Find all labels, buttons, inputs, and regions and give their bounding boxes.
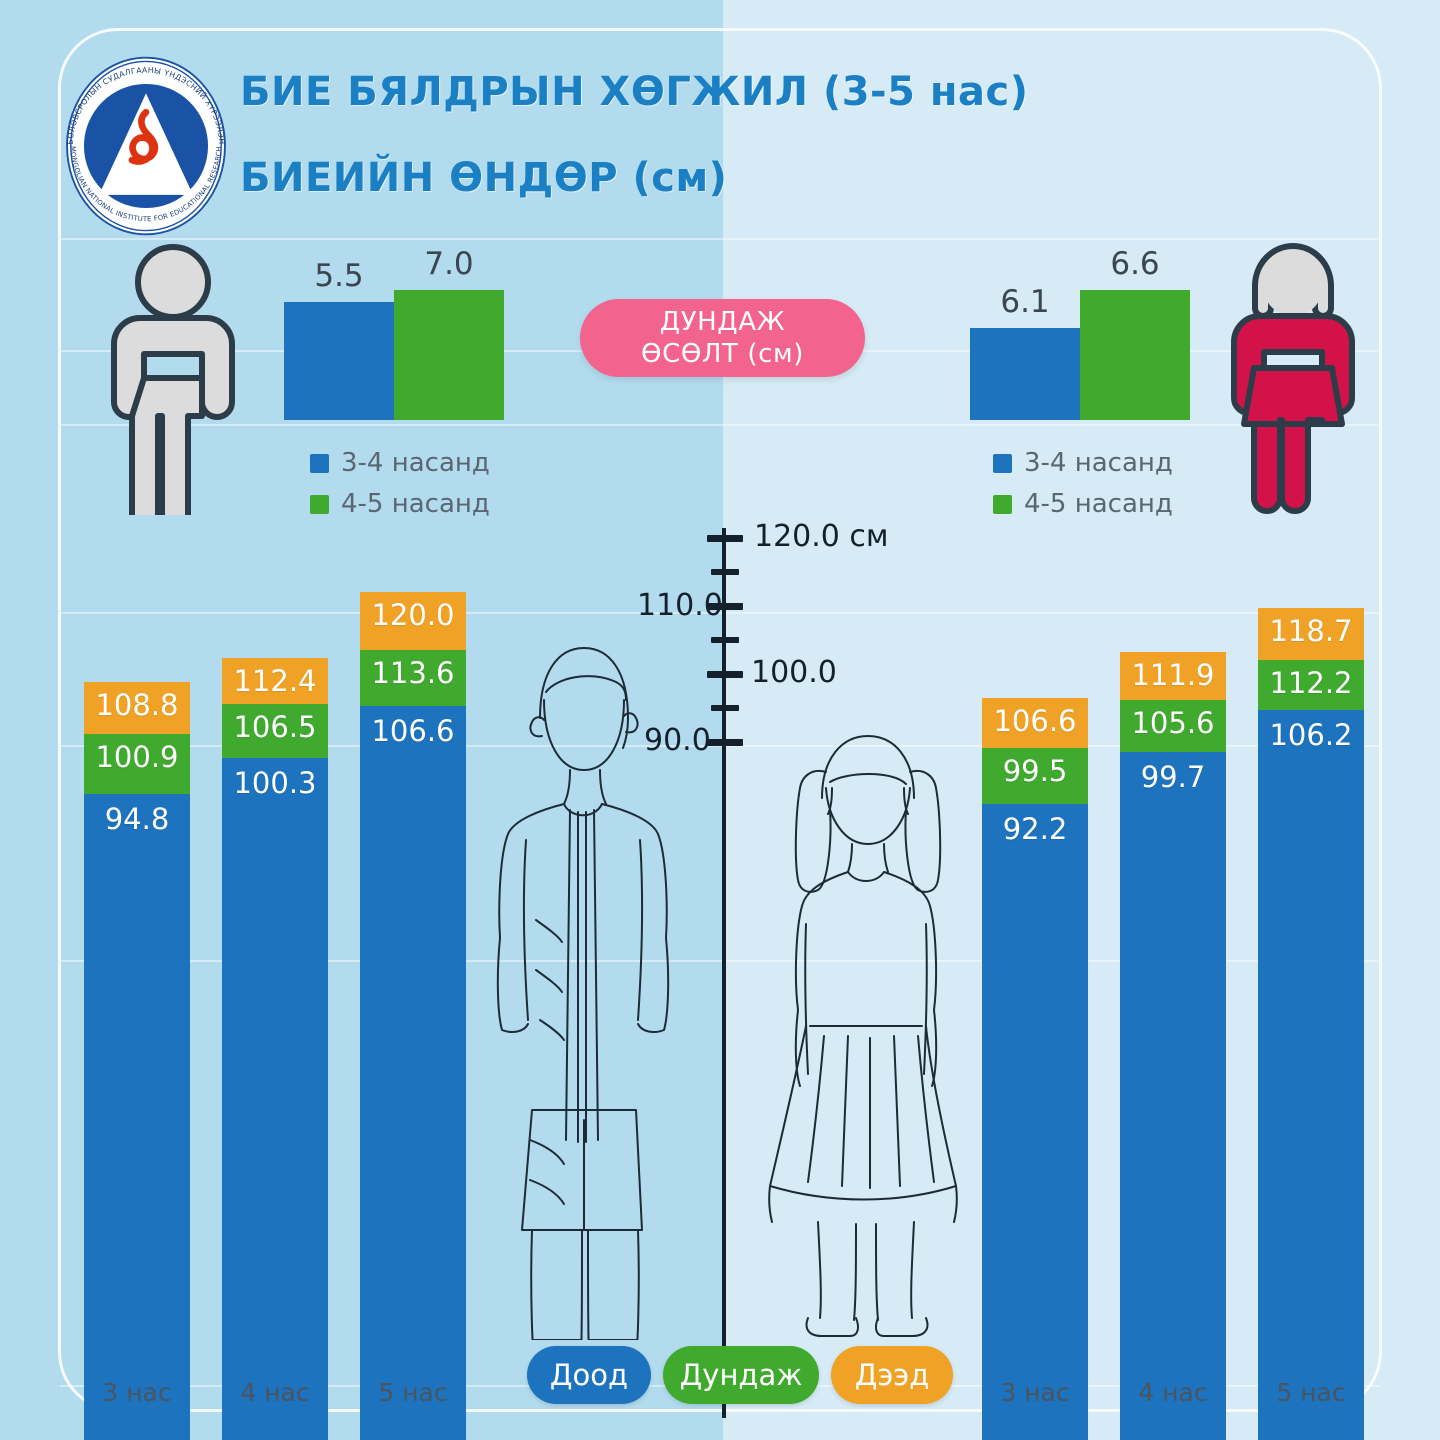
- badge-line-2: ӨСӨЛТ (см): [641, 338, 804, 370]
- segment-value: 94.8: [84, 802, 190, 836]
- mini-bar-4-5: 6.6: [1080, 290, 1190, 420]
- mini-legend-girls: 3-4 насанд 4-5 насанд: [993, 443, 1173, 525]
- axis-tick-minor-115: [711, 569, 739, 575]
- segment-lower: 99.7: [1120, 752, 1226, 1440]
- xaxis-label-boys-4: 4 нас: [205, 1378, 345, 1407]
- institute-logo: БОЛОВСРОЛЫН СУДАЛГААНЫ ҮНДЭСНИЙ ХҮРЭЭЛЭН…: [52, 52, 240, 240]
- segment-upper: 112.4: [222, 658, 328, 704]
- segment-mid: 100.9: [84, 734, 190, 794]
- legend-pill-dundaj[interactable]: Дундаж: [663, 1346, 819, 1404]
- segment-value: 100.9: [84, 740, 190, 774]
- axis-label-110: 110.0: [637, 588, 723, 623]
- mini-legend-boys: 3-4 насанд 4-5 насанд: [310, 443, 490, 525]
- segment-value: 108.8: [84, 688, 190, 722]
- legend-pill-deed[interactable]: Дээд: [831, 1346, 953, 1404]
- stacked-bar-boys-3: 108.8 100.9 94.8: [84, 682, 190, 1440]
- segment-mid: 105.6: [1120, 700, 1226, 752]
- segment-upper: 120.0: [360, 592, 466, 650]
- gridline: [60, 424, 1380, 426]
- xaxis-label-boys-3: 3 нас: [67, 1378, 207, 1407]
- xaxis-label-girls-5: 5 нас: [1241, 1378, 1381, 1407]
- segment-mid: 99.5: [982, 748, 1088, 804]
- axis-tick-minor-105: [711, 637, 739, 643]
- legend-label: 4-5 насанд: [341, 484, 490, 525]
- legend-item-4-5: 4-5 насанд: [310, 484, 490, 525]
- segment-value: 113.6: [360, 656, 466, 690]
- axis-label-90: 90.0: [644, 723, 711, 758]
- legend-label: 4-5 насанд: [1024, 484, 1173, 525]
- segment-lower: 92.2: [982, 804, 1088, 1440]
- segment-value: 99.5: [982, 754, 1088, 788]
- male-person-icon: [88, 240, 258, 515]
- xaxis-label-girls-4: 4 нас: [1103, 1378, 1243, 1407]
- segment-upper: 106.6: [982, 698, 1088, 748]
- mini-bar-value: 7.0: [394, 246, 504, 282]
- ruler-axis-line: [722, 528, 726, 1418]
- legend-item-3-4: 3-4 насанд: [993, 443, 1173, 484]
- mini-bar-value: 6.1: [970, 284, 1080, 320]
- segment-value: 99.7: [1120, 760, 1226, 794]
- segment-mid: 106.5: [222, 704, 328, 758]
- segment-value: 111.9: [1120, 658, 1226, 692]
- mini-chart-boys-bars: 5.5 7.0: [284, 290, 504, 420]
- legend-pill-label: Дундаж: [680, 1358, 803, 1392]
- axis-tick-minor-95: [711, 705, 739, 711]
- mini-bar-3-4: 5.5: [284, 302, 394, 420]
- segment-value: 112.2: [1258, 666, 1364, 700]
- segment-lower: 94.8: [84, 794, 190, 1440]
- segment-value: 120.0: [360, 598, 466, 632]
- infographic-canvas: БОЛОВСРОЛЫН СУДАЛГААНЫ ҮНДЭСНИЙ ХҮРЭЭЛЭН…: [0, 0, 1440, 1440]
- female-person-icon: [1208, 238, 1378, 516]
- stacked-bar-girls-3: 106.6 99.5 92.2: [982, 698, 1088, 1440]
- average-growth-badge: ДУНДАЖ ӨСӨЛТ (см): [580, 299, 865, 377]
- segment-lower: 106.2: [1258, 710, 1364, 1440]
- legend-pill-label: Доод: [550, 1358, 628, 1392]
- title-block: БИЕ БЯЛДРЫН ХӨГЖИЛ (3-5 нас) БИЕИЙН ӨНДӨ…: [240, 66, 1140, 204]
- stacked-bar-girls-4: 111.9 105.6 99.7: [1120, 652, 1226, 1440]
- stacked-bar-boys-4: 112.4 106.5 100.3: [222, 658, 328, 1440]
- badge-line-1: ДУНДАЖ: [660, 306, 785, 338]
- axis-tick-major-90: [707, 739, 743, 746]
- mini-bar-value: 6.6: [1080, 246, 1190, 282]
- stacked-bar-boys-5: 120.0 113.6 106.6: [360, 592, 466, 1440]
- gridline: [60, 238, 1380, 240]
- mini-bar-3-4: 6.1: [970, 328, 1080, 420]
- legend-pill-label: Дээд: [855, 1358, 930, 1392]
- legend-pill-dood[interactable]: Доод: [527, 1346, 651, 1404]
- mini-chart-girls-bars: 6.1 6.6: [970, 290, 1190, 420]
- segment-upper: 108.8: [84, 682, 190, 734]
- axis-tick-major-120: [707, 535, 743, 542]
- segment-mid: 112.2: [1258, 660, 1364, 710]
- page-title: БИЕ БЯЛДРЫН ХӨГЖИЛ (3-5 нас): [240, 66, 1140, 118]
- segment-value: 112.4: [222, 664, 328, 698]
- mini-bar-value: 5.5: [284, 258, 394, 294]
- legend-swatch-blue: [310, 454, 329, 473]
- legend-swatch-green: [310, 495, 329, 514]
- segment-value: 106.6: [360, 714, 466, 748]
- axis-label-120: 120.0 см: [754, 519, 889, 554]
- legend-swatch-blue: [993, 454, 1012, 473]
- segment-lower: 100.3: [222, 758, 328, 1440]
- axis-tick-major-100: [707, 671, 743, 678]
- legend-item-3-4: 3-4 насанд: [310, 443, 490, 484]
- mini-bar-4-5: 7.0: [394, 290, 504, 420]
- segment-upper: 118.7: [1258, 608, 1364, 660]
- legend-label: 3-4 насанд: [341, 443, 490, 484]
- xaxis-label-boys-5: 5 нас: [343, 1378, 483, 1407]
- segment-upper: 111.9: [1120, 652, 1226, 700]
- segment-mid: 113.6: [360, 650, 466, 706]
- segment-value: 106.6: [982, 704, 1088, 738]
- segment-value: 106.5: [222, 710, 328, 744]
- segment-value: 92.2: [982, 812, 1088, 846]
- legend-label: 3-4 насанд: [1024, 443, 1173, 484]
- segment-value: 118.7: [1258, 614, 1364, 648]
- xaxis-label-girls-3: 3 нас: [965, 1378, 1105, 1407]
- segment-value: 105.6: [1120, 706, 1226, 740]
- legend-swatch-green: [993, 495, 1012, 514]
- segment-value: 106.2: [1258, 718, 1364, 752]
- stacked-bar-girls-5: 118.7 112.2 106.2: [1258, 608, 1364, 1440]
- segment-value: 100.3: [222, 766, 328, 800]
- axis-label-100: 100.0: [751, 655, 837, 690]
- segment-lower: 106.6: [360, 706, 466, 1440]
- legend-item-4-5: 4-5 насанд: [993, 484, 1173, 525]
- page-subtitle: БИЕИЙН ӨНДӨР (см): [240, 152, 1140, 204]
